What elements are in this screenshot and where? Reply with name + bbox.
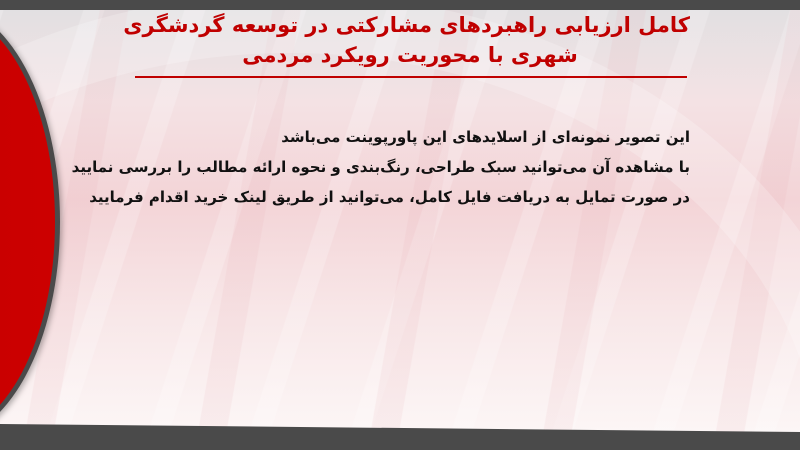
slide-title-line-2: شهری با محوریت رویکرد مردمی: [130, 40, 690, 70]
body-line-1: این تصویر نمونه‌ای از اسلایدهای این پاور…: [100, 122, 690, 152]
body-line-2: با مشاهده آن می‌توانید سبک طراحی، رنگ‌بن…: [100, 152, 690, 182]
left-red-oval-decoration: [0, 4, 64, 444]
presentation-slide: کامل ارزیابی راهبردهای مشارکتی در توسعه …: [0, 0, 800, 450]
body-line-3: در صورت تمایل به دریافت فایل کامل، می‌تو…: [100, 182, 690, 212]
slide-background: [0, 9, 800, 433]
slide-title: کامل ارزیابی راهبردهای مشارکتی در توسعه …: [130, 10, 690, 70]
top-band: [0, 0, 800, 10]
slide-title-line-1: کامل ارزیابی راهبردهای مشارکتی در توسعه …: [130, 10, 690, 40]
slide-body-text: این تصویر نمونه‌ای از اسلایدهای این پاور…: [100, 122, 690, 212]
title-underline-rule: [135, 76, 687, 78]
